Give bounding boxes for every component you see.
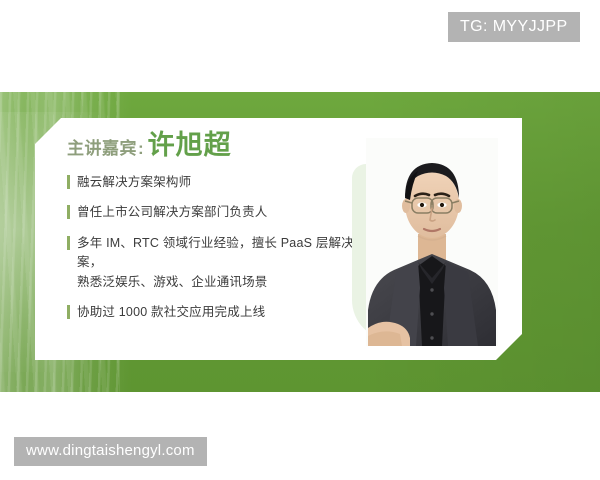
list-item-line1: 协助过 1000 款社交应用完成上线: [77, 305, 265, 319]
list-item: 曾任上市公司解决方案部门负责人: [67, 203, 387, 222]
list-item-line1: 多年 IM、RTC 领域行业经验，擅长 PaaS 层解决方案，: [77, 236, 367, 269]
heading-label: 主讲嘉宾: [67, 134, 137, 159]
list-item-line1: 曾任上市公司解决方案部门负责人: [77, 205, 268, 219]
list-item-line1: 融云解决方案架构师: [77, 175, 191, 189]
speaker-portrait: [366, 138, 498, 346]
list-item-line2: 熟悉泛娱乐、游戏、企业通讯场景: [77, 273, 387, 292]
list-item-text: 融云解决方案架构师: [77, 173, 191, 192]
bullet-marker-icon: [67, 175, 70, 189]
bullet-marker-icon: [67, 205, 70, 219]
heading-colon: :: [138, 139, 144, 159]
list-item-text: 多年 IM、RTC 领域行业经验，擅长 PaaS 层解决方案， 熟悉泛娱乐、游戏…: [77, 234, 387, 292]
site-watermark-badge: www.dingtaishengyl.com: [14, 437, 207, 466]
speaker-name: 许旭超: [148, 132, 232, 159]
list-item: 多年 IM、RTC 领域行业经验，擅长 PaaS 层解决方案， 熟悉泛娱乐、游戏…: [67, 234, 387, 292]
bullet-marker-icon: [67, 236, 70, 250]
list-item-text: 协助过 1000 款社交应用完成上线: [77, 303, 265, 322]
speaker-bio-list: 融云解决方案架构师 曾任上市公司解决方案部门负责人 多年 IM、RTC 领域行业…: [67, 173, 387, 322]
list-item-text: 曾任上市公司解决方案部门负责人: [77, 203, 268, 222]
tg-watermark-badge: TG: MYYJJPP: [448, 12, 580, 42]
list-item: 协助过 1000 款社交应用完成上线: [67, 303, 387, 322]
page-title: 主讲嘉宾 : 许旭超: [67, 132, 232, 159]
speaker-card: 主讲嘉宾 : 许旭超 融云解决方案架构师 曾任上市公司解决方案部门负责人 多年 …: [35, 118, 522, 360]
list-item: 融云解决方案架构师: [67, 173, 387, 192]
bullet-marker-icon: [67, 305, 70, 319]
speaker-portrait-area: [352, 138, 498, 346]
